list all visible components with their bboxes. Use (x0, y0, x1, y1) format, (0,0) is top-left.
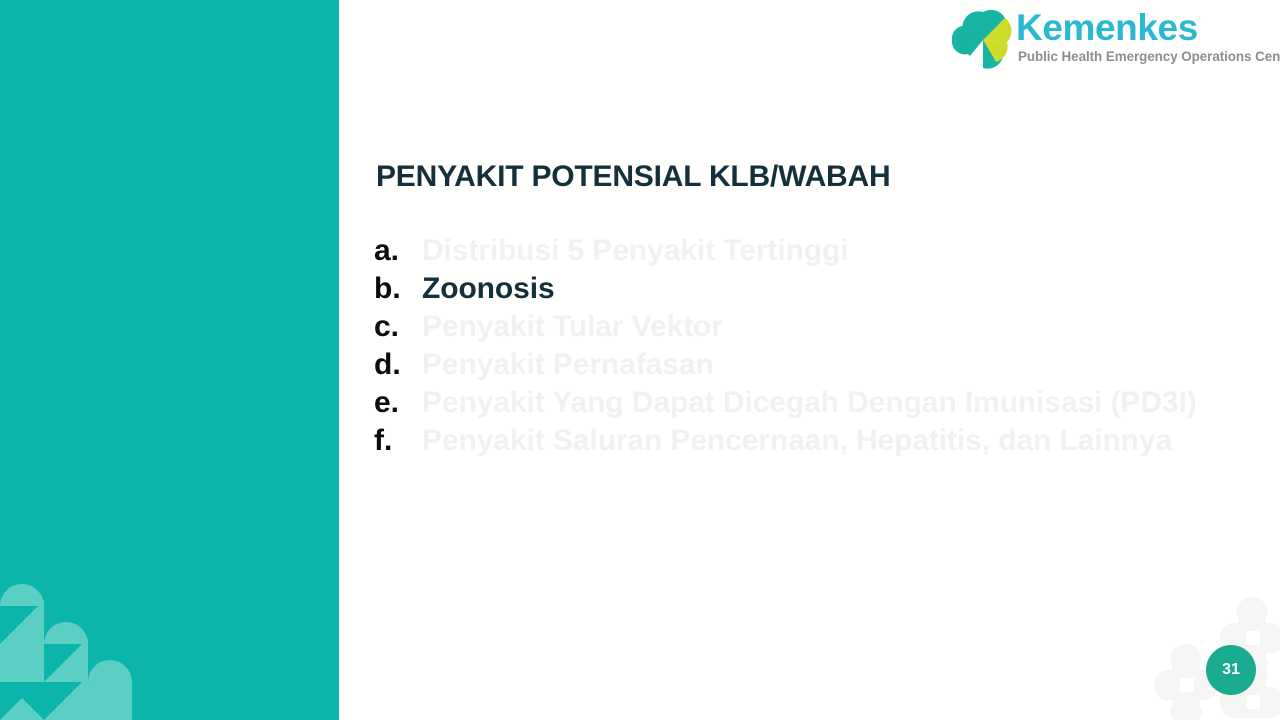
list-item-label: Penyakit Tular Vektor (422, 308, 1234, 346)
list-item-label: Penyakit Saluran Pencernaan, Hepatitis, … (422, 422, 1234, 460)
list-item[interactable]: d. Penyakit Pernafasan (374, 346, 1234, 384)
list-item[interactable]: b. Zoonosis (374, 270, 1234, 308)
list-item-marker: a. (374, 232, 422, 270)
list-item-marker: b. (374, 270, 422, 308)
logo-tagline: Public Health Emergency Operations Cente… (1018, 49, 1280, 64)
list-item[interactable]: c. Penyakit Tular Vektor (374, 308, 1234, 346)
list-item-label: Penyakit Pernafasan (422, 346, 1234, 384)
list-item-marker: e. (374, 384, 422, 422)
page-number-badge: 31 (1206, 645, 1256, 695)
kemenkes-clover-icon (950, 6, 1016, 72)
list-item-label: Penyakit Yang Dapat Dicegah Dengan Imuni… (422, 384, 1234, 422)
left-accent-panel (0, 0, 339, 720)
agenda-list: a. Distribusi 5 Penyakit Tertinggi b. Zo… (374, 232, 1234, 460)
list-item-label: Distribusi 5 Penyakit Tertinggi (422, 232, 1234, 270)
list-item-marker: f. (374, 422, 422, 460)
petal-pattern-decoration (0, 580, 140, 720)
kemenkes-logo: Kemenkes Public Health Emergency Operati… (950, 4, 1272, 74)
logo-wordmark: Kemenkes (1016, 8, 1198, 48)
list-item[interactable]: e. Penyakit Yang Dapat Dicegah Dengan Im… (374, 384, 1234, 422)
list-item-marker: c. (374, 308, 422, 346)
list-item-label: Zoonosis (422, 270, 1234, 308)
list-item[interactable]: f. Penyakit Saluran Pencernaan, Hepatiti… (374, 422, 1234, 460)
list-item-marker: d. (374, 346, 422, 384)
list-item[interactable]: a. Distribusi 5 Penyakit Tertinggi (374, 232, 1234, 270)
page-title: PENYAKIT POTENSIAL KLB/WABAH (376, 160, 890, 194)
